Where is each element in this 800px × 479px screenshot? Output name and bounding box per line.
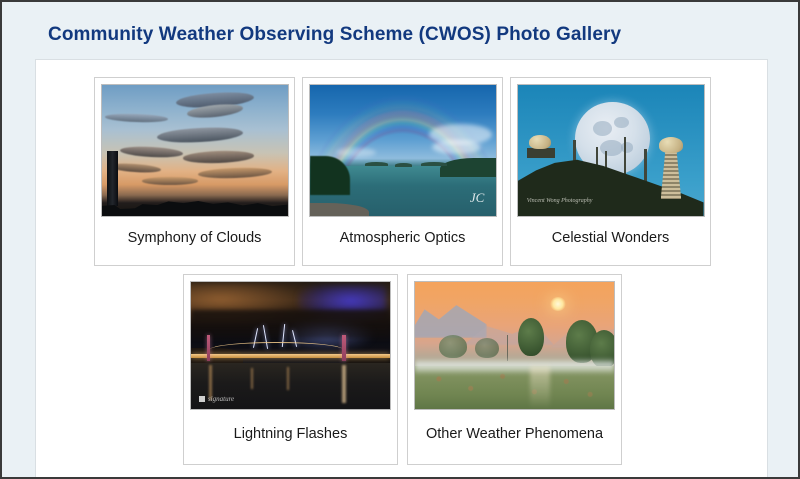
misty-sunrise-photo xyxy=(415,282,614,409)
photo-frame[interactable] xyxy=(414,281,615,410)
gallery-row-2: signature Lightning Flashes xyxy=(36,274,769,465)
clouds-photo xyxy=(102,85,288,216)
rainbow-photo: JC xyxy=(310,85,496,216)
gallery-grid: Symphony of Clouds xyxy=(36,60,769,465)
card-caption: Symphony of Clouds xyxy=(126,217,264,261)
card-caption: Other Weather Phenomena xyxy=(424,410,605,460)
gallery-page: Community Weather Observing Scheme (CWOS… xyxy=(0,0,800,479)
page-title: Community Weather Observing Scheme (CWOS… xyxy=(48,24,621,46)
watermark-signature: signature xyxy=(208,395,234,403)
gallery-card-other-weather-phenomena[interactable]: Other Weather Phenomena xyxy=(407,274,622,465)
photo-watermark: JC xyxy=(470,190,484,206)
lightning-photo: signature xyxy=(191,282,390,409)
card-caption: Atmospheric Optics xyxy=(338,217,468,261)
gallery-card-symphony-of-clouds[interactable]: Symphony of Clouds xyxy=(94,77,295,266)
photo-watermark: signature xyxy=(199,395,234,403)
card-caption: Celestial Wonders xyxy=(550,217,671,261)
gallery-card-lightning-flashes[interactable]: signature Lightning Flashes xyxy=(183,274,398,465)
watermark-square-icon xyxy=(199,396,205,402)
photo-frame[interactable] xyxy=(101,84,289,217)
gallery-row-1: Symphony of Clouds xyxy=(36,77,769,266)
card-caption: Lightning Flashes xyxy=(232,410,350,460)
photo-watermark: Vincent Wong Photography xyxy=(527,197,593,205)
gallery-card-celestial-wonders[interactable]: Vincent Wong Photography Celestial Wonde… xyxy=(510,77,711,266)
gallery-card-atmospheric-optics[interactable]: JC Atmospheric Optics xyxy=(302,77,503,266)
photo-frame[interactable]: signature xyxy=(190,281,391,410)
photo-frame[interactable]: Vincent Wong Photography xyxy=(517,84,705,217)
gallery-panel: Symphony of Clouds xyxy=(35,59,768,479)
photo-frame[interactable]: JC xyxy=(309,84,497,217)
moon-photo: Vincent Wong Photography xyxy=(518,85,704,216)
